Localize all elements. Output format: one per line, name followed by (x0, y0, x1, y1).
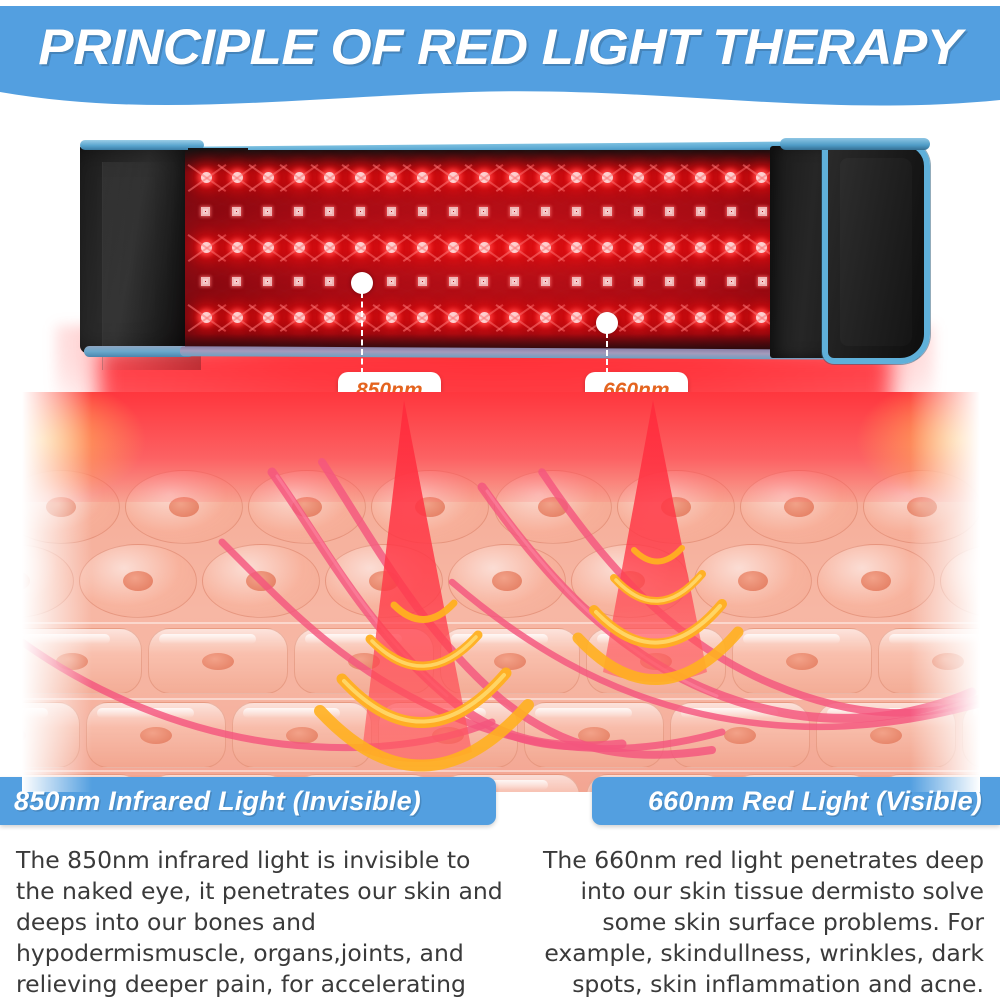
led-round (232, 172, 243, 183)
led-row-1-round (185, 172, 845, 183)
led-round (725, 312, 736, 323)
led-round (448, 172, 459, 183)
led-row-4-square (185, 277, 845, 286)
led-square (572, 207, 581, 216)
led-square (665, 207, 674, 216)
led-round (448, 312, 459, 323)
led-square (201, 277, 210, 286)
led-round (263, 242, 274, 253)
led-round (509, 312, 520, 323)
skin-cell-oval (571, 544, 689, 618)
led-round (633, 242, 644, 253)
led-square (696, 277, 705, 286)
led-square (510, 207, 519, 216)
skin-cell-rect (148, 628, 288, 694)
led-square (696, 207, 705, 216)
skin-cell-rect (732, 628, 872, 694)
led-square (479, 207, 488, 216)
led-round (725, 172, 736, 183)
led-round (448, 242, 459, 253)
led-square (665, 277, 674, 286)
led-round (324, 172, 335, 183)
dermis-cell-row-2 (22, 702, 950, 768)
page-title: PRINCIPLE OF RED LIGHT THERAPY (0, 18, 1000, 76)
led-square (325, 207, 334, 216)
skin-cell-rect (232, 702, 372, 768)
led-round (571, 312, 582, 323)
led-square (356, 207, 365, 216)
led-round (540, 312, 551, 323)
caption-body-850: The 850nm infrared light is invisible to… (16, 845, 506, 1000)
led-square (387, 277, 396, 286)
led-square (294, 207, 303, 216)
skin-fade-right (910, 392, 980, 792)
led-square (479, 277, 488, 286)
led-round (633, 172, 644, 183)
led-round (664, 312, 675, 323)
skin-fade-left (22, 392, 92, 792)
led-round (479, 172, 490, 183)
caption-body-660: The 660nm red light penetrates deep into… (514, 845, 984, 1000)
skin-cell-oval (694, 544, 812, 618)
led-square (201, 207, 210, 216)
led-row-5-round (185, 312, 845, 323)
led-square (634, 277, 643, 286)
led-round (232, 242, 243, 253)
led-round (324, 312, 335, 323)
led-square (603, 277, 612, 286)
led-round (540, 172, 551, 183)
led-round (294, 172, 305, 183)
skin-cell-rect (524, 702, 664, 768)
led-square (541, 277, 550, 286)
led-round (479, 312, 490, 323)
led-square (758, 277, 767, 286)
led-round (355, 172, 366, 183)
skin-cell-oval (79, 544, 197, 618)
led-round (756, 312, 767, 323)
led-square (449, 277, 458, 286)
led-square (449, 207, 458, 216)
led-round (232, 312, 243, 323)
led-round (386, 172, 397, 183)
led-panel (185, 150, 845, 350)
belt-right-inner (840, 158, 912, 346)
led-round (695, 172, 706, 183)
led-round (417, 242, 428, 253)
led-round (756, 242, 767, 253)
led-round (201, 242, 212, 253)
led-round (355, 242, 366, 253)
therapy-belt (80, 130, 930, 380)
led-round (294, 242, 305, 253)
skin-cell-rect (294, 628, 434, 694)
skin-cell-oval (448, 544, 566, 618)
led-round (417, 172, 428, 183)
led-round (664, 242, 675, 253)
led-square (263, 277, 272, 286)
led-round (571, 172, 582, 183)
led-round (602, 172, 613, 183)
led-square (418, 207, 427, 216)
led-round (571, 242, 582, 253)
led-round (633, 312, 644, 323)
dermis-cell-row-1 (22, 628, 980, 694)
led-round (417, 312, 428, 323)
led-square (325, 277, 334, 286)
led-round (695, 312, 706, 323)
led-square (232, 277, 241, 286)
skin-cell-rect (586, 628, 726, 694)
epidermis-cell-row-2 (22, 544, 966, 618)
led-round (509, 242, 520, 253)
header-banner: PRINCIPLE OF RED LIGHT THERAPY (0, 0, 1000, 120)
led-round (201, 312, 212, 323)
led-round (540, 242, 551, 253)
layer-divider-3 (22, 770, 980, 772)
callout-line-660 (606, 332, 608, 374)
callout-line-850 (361, 292, 363, 374)
led-round (263, 172, 274, 183)
led-round (386, 312, 397, 323)
callout-dot-660[interactable] (596, 312, 618, 334)
belt-right-top-trim (780, 138, 930, 150)
led-round (324, 242, 335, 253)
led-round (725, 242, 736, 253)
led-square (758, 207, 767, 216)
led-square (572, 277, 581, 286)
led-grid (185, 150, 845, 350)
skin-cell-oval (325, 544, 443, 618)
led-square (263, 207, 272, 216)
led-round (509, 172, 520, 183)
led-square (510, 277, 519, 286)
led-square (541, 207, 550, 216)
led-square (418, 277, 427, 286)
led-round (294, 312, 305, 323)
led-square (603, 207, 612, 216)
led-round (201, 172, 212, 183)
led-square (727, 277, 736, 286)
led-square (634, 207, 643, 216)
infographic-page: PRINCIPLE OF RED LIGHT THERAPY (0, 0, 1000, 1000)
skin-cell-rect (378, 702, 518, 768)
layer-divider-2 (22, 698, 980, 700)
layer-divider-1 (22, 622, 980, 624)
led-round (386, 242, 397, 253)
led-round (602, 242, 613, 253)
callout-dot-850[interactable] (351, 272, 373, 294)
led-round (263, 312, 274, 323)
led-square (727, 207, 736, 216)
skin-cell-rect (86, 702, 226, 768)
belt-left-flap (80, 146, 200, 354)
skin-cross-section (22, 392, 980, 792)
led-round (756, 172, 767, 183)
led-row-3-round (185, 242, 845, 253)
skin-cell-oval (202, 544, 320, 618)
led-square (387, 207, 396, 216)
led-square (294, 277, 303, 286)
belt-left-trim-bottom (84, 346, 194, 357)
led-square (232, 207, 241, 216)
device-area: 850nm 660nm (0, 110, 1000, 410)
led-round (695, 242, 706, 253)
led-round (479, 242, 490, 253)
skin-cell-rect (440, 628, 580, 694)
led-round (664, 172, 675, 183)
skin-cell-rect (670, 702, 810, 768)
led-row-2-square (185, 207, 845, 216)
belt-left-trim-top (80, 140, 204, 150)
